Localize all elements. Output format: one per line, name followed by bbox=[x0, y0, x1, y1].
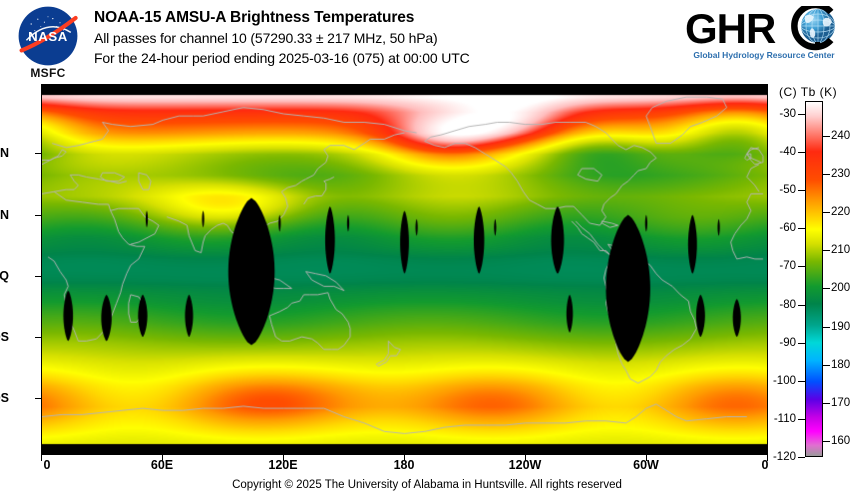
subtitle-channel: All passes for channel 10 (57290.33 ± 21… bbox=[94, 28, 674, 48]
lon-tick-120e bbox=[283, 455, 284, 461]
colorbar-tick-kelvin bbox=[823, 174, 830, 175]
colorbar-tick-celsius bbox=[798, 190, 805, 191]
colorbar-tick-kelvin bbox=[823, 250, 830, 251]
colorbar-tick-kelvin bbox=[823, 441, 830, 442]
colorbar-tick-celsius bbox=[798, 381, 805, 382]
colorbar-tick-kelvin bbox=[823, 365, 830, 366]
colorbar-label-kelvin: 240 bbox=[831, 130, 850, 142]
colorbar-tick-celsius bbox=[798, 343, 805, 344]
map-raster bbox=[42, 85, 767, 454]
colorbar-gradient[interactable] bbox=[805, 101, 823, 457]
lon-tick-120w bbox=[525, 455, 526, 461]
colorbar-label-celsius: -50 bbox=[772, 184, 796, 196]
subtitle-period: For the 24-hour period ending 2025-03-16… bbox=[94, 48, 674, 68]
ghrc-tagline: Global Hydrology Resource Center bbox=[679, 50, 849, 60]
colorbar-label-kelvin: 170 bbox=[831, 397, 850, 409]
colorbar-label-celsius: -90 bbox=[772, 337, 796, 349]
colorbar-label-kelvin: 180 bbox=[831, 359, 850, 371]
lat-label-60s: 60S bbox=[0, 391, 9, 405]
title-block: NOAA-15 AMSU-A Brightness Temperatures A… bbox=[94, 8, 674, 68]
colorbar-label-celsius: -40 bbox=[772, 146, 796, 158]
colorbar-header: (C) Tb (K) bbox=[779, 85, 837, 99]
colorbar-label-celsius: -70 bbox=[772, 260, 796, 272]
page-title: NOAA-15 AMSU-A Brightness Temperatures bbox=[94, 8, 674, 28]
colorbar-tick-celsius bbox=[798, 266, 805, 267]
colorbar-label-kelvin: 230 bbox=[831, 168, 850, 180]
colorbar-tick-celsius bbox=[798, 152, 805, 153]
colorbar-tick-kelvin bbox=[823, 136, 830, 137]
colorbar-label-celsius: -80 bbox=[772, 299, 796, 311]
ghrc-wordmark-icon: GHR bbox=[679, 6, 849, 54]
lat-label-30s: 30S bbox=[0, 330, 9, 344]
copyright-notice: Copyright © 2025 The University of Alaba… bbox=[0, 479, 854, 491]
colorbar-label-celsius: -100 bbox=[772, 375, 796, 387]
lon-tick-0e bbox=[767, 455, 768, 461]
lon-tick-180 bbox=[404, 455, 405, 461]
colorbar-tick-kelvin bbox=[823, 288, 830, 289]
lat-label-eq: EQ bbox=[0, 269, 9, 283]
colorbar-tick-celsius bbox=[798, 114, 805, 115]
lat-tick-30n bbox=[35, 215, 41, 216]
colorbar-label-celsius: -110 bbox=[772, 413, 796, 425]
colorbar-label-kelvin: 210 bbox=[831, 244, 850, 256]
lat-tick-eq bbox=[35, 276, 41, 277]
svg-text:NASA: NASA bbox=[28, 29, 68, 44]
colorbar-label-kelvin: 190 bbox=[831, 321, 850, 333]
colorbar-label-kelvin: 160 bbox=[831, 435, 850, 447]
colorbar-label-kelvin: 200 bbox=[831, 282, 850, 294]
lat-tick-60s bbox=[35, 398, 41, 399]
svg-text:GHR: GHR bbox=[685, 6, 776, 52]
lat-label-30n: 30N bbox=[0, 208, 9, 222]
colorbar-tick-celsius bbox=[798, 305, 805, 306]
colorbar-tick-celsius bbox=[798, 228, 805, 229]
lat-tick-60n bbox=[35, 153, 41, 154]
colorbar-label-celsius: -30 bbox=[772, 108, 796, 120]
colorbar-tick-celsius bbox=[798, 457, 805, 458]
ghrc-logo: GHR Global Hydrology Resource Center bbox=[679, 6, 849, 78]
colorbar-tick-kelvin bbox=[823, 212, 830, 213]
msfc-label: MSFC bbox=[10, 66, 86, 80]
brightness-temperature-map[interactable] bbox=[41, 84, 768, 455]
lat-label-60n: 60N bbox=[0, 146, 9, 160]
colorbar-label-celsius: -60 bbox=[772, 222, 796, 234]
colorbar-label-kelvin: 220 bbox=[831, 206, 850, 218]
lon-label-0w: 0 bbox=[44, 458, 51, 472]
lon-tick-60w bbox=[646, 455, 647, 461]
nasa-meatball-icon: NASA bbox=[18, 6, 78, 66]
nasa-msfc-logo: NASA MSFC bbox=[10, 6, 86, 80]
colorbar-tick-kelvin bbox=[823, 403, 830, 404]
colorbar-label-celsius: -120 bbox=[772, 451, 796, 463]
lat-tick-30s bbox=[35, 337, 41, 338]
lon-tick-0w bbox=[41, 455, 42, 461]
colorbar-tick-celsius bbox=[798, 419, 805, 420]
lon-tick-60e bbox=[162, 455, 163, 461]
colorbar-tick-kelvin bbox=[823, 327, 830, 328]
